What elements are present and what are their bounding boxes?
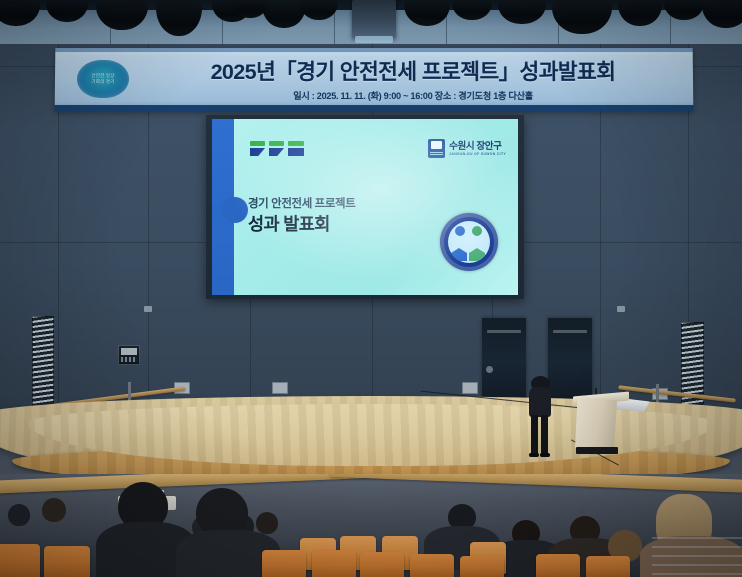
- stage-door-left[interactable]: [482, 318, 526, 406]
- banner-top-stripe: [55, 48, 692, 52]
- door-push-bar: [487, 330, 520, 333]
- banner-logo-line2: 기회의 경기: [91, 79, 114, 85]
- attendee-head: [8, 504, 30, 526]
- auditorium-seat: [586, 556, 630, 577]
- presenter-torso: [529, 387, 551, 417]
- auditorium-seat: [0, 544, 40, 577]
- gyeonggi-province-logo: 안전한 일상 기회의 경기: [77, 60, 129, 98]
- slide-band-notch: [222, 197, 248, 223]
- suwon-logo-english: JANGAN-GU OF SUWON CITY: [449, 152, 506, 156]
- banner-bottom-stripe: [55, 105, 694, 111]
- ceiling-projector: [352, 0, 396, 38]
- wall-outlet-door: [462, 382, 478, 394]
- auditorium-seat: [44, 546, 90, 577]
- auditorium-photo: 안전한 일상 기회의 경기 2025년「경기 안전전세 프로젝트」성과발표회 일…: [0, 0, 742, 577]
- lectern-base: [576, 447, 618, 454]
- banner-subtitle: 일시 : 2025. 11. 11. (화) 9:00 ~ 16:00 장소 :…: [143, 88, 683, 102]
- door-push-bar: [553, 330, 586, 333]
- presenter-leg: [531, 415, 538, 455]
- lectern-body: [575, 398, 617, 450]
- wall-sensor-right: [617, 306, 625, 312]
- slide-title: 성과 발표회: [248, 211, 330, 236]
- wall-sensor-left: [144, 306, 152, 312]
- wall-control-panel[interactable]: [118, 345, 140, 365]
- auditorium-seat: [360, 552, 404, 577]
- door-handle: [486, 366, 493, 373]
- suwon-logo-mark: [428, 139, 445, 158]
- auditorium-seat: [460, 556, 504, 577]
- gyeonggi-do-gg-logo: [250, 141, 306, 161]
- presenter-shoe: [540, 453, 550, 457]
- projection-screen: 수원시 장안구 JANGAN-GU OF SUWON CITY 경기 안전전세 …: [212, 119, 518, 295]
- attendee-head: [256, 512, 278, 534]
- suwon-logo-korean: 수원시 장안구: [449, 142, 506, 152]
- aisle-step-rail: [652, 537, 742, 577]
- ceiling: [0, 0, 742, 48]
- presenter-bowing: [527, 376, 553, 458]
- event-banner: 안전한 일상 기회의 경기 2025년「경기 안전전세 프로젝트」성과발표회 일…: [55, 48, 694, 111]
- banner-title: 2025년「경기 안전전세 프로젝트」성과발표회: [143, 55, 683, 86]
- presenter-shoe: [529, 453, 539, 457]
- emblem-ring: [440, 213, 498, 271]
- slide-subtitle: 경기 안전전세 프로젝트: [248, 195, 355, 211]
- safety-jeonse-circular-emblem: [440, 213, 498, 271]
- auditorium-seat: [536, 554, 580, 577]
- projection-screen-frame: 수원시 장안구 JANGAN-GU OF SUWON CITY 경기 안전전세 …: [206, 115, 524, 299]
- suwon-jangan-gu-logo: 수원시 장안구 JANGAN-GU OF SUWON CITY: [428, 139, 506, 158]
- auditorium-seat: [262, 550, 306, 577]
- audience-area: [0, 474, 742, 577]
- presenter-leg: [541, 415, 548, 455]
- auditorium-seat: [312, 550, 356, 577]
- wall-outlet-center: [272, 382, 288, 394]
- auditorium-seat: [410, 554, 454, 577]
- attendee-head: [42, 498, 66, 522]
- lectern: [575, 388, 617, 458]
